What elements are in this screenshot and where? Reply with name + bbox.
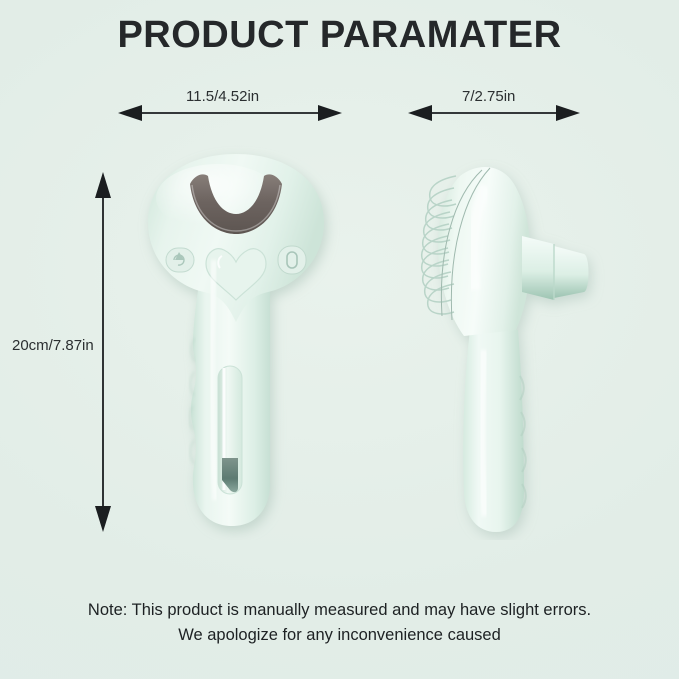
- measurement-note: Note: This product is manually measured …: [0, 598, 679, 648]
- product-image-side-view: [398, 140, 608, 540]
- mode-button[interactable]: [166, 248, 194, 272]
- double-arrow-horizontal-icon: [116, 102, 344, 124]
- page-title: PRODUCT PARAMATER: [0, 14, 679, 57]
- suction-nozzle: [522, 236, 589, 300]
- handle-channel: [218, 366, 242, 494]
- double-arrow-vertical-icon: [92, 170, 114, 534]
- handle-gloss: [481, 350, 486, 516]
- note-line-1: Note: This product is manually measured …: [0, 598, 679, 623]
- note-line-2: We apologize for any inconvenience cause…: [0, 623, 679, 648]
- double-arrow-horizontal-icon: [406, 102, 582, 124]
- product-image-front-view: [118, 140, 348, 540]
- product-parameter-page: PRODUCT PARAMATER 11.5/4.52in 7/2.75in 2…: [0, 0, 679, 679]
- handle: [463, 330, 524, 532]
- power-button[interactable]: [278, 246, 306, 274]
- dimension-label-height: 20cm/7.87in: [12, 337, 94, 354]
